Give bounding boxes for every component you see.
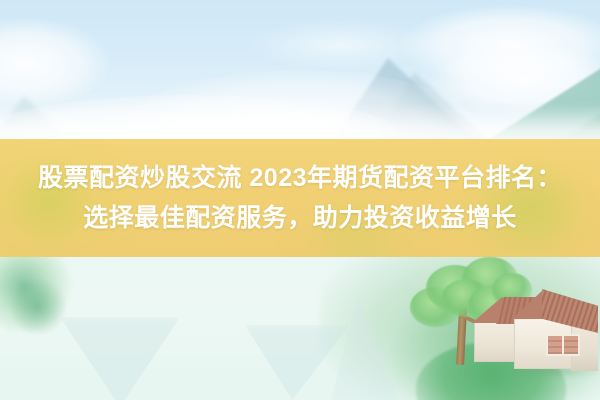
foliage-cluster-left [0, 257, 74, 331]
mountain-ridge-right [480, 50, 600, 145]
foliage-cluster-left-core [8, 279, 68, 335]
cloud-wisp [250, 20, 430, 70]
fog-shape-center [245, 325, 350, 400]
cloud-top-left [0, 18, 110, 108]
fog-shape-left [60, 317, 180, 400]
mountain-peak-second [372, 72, 492, 144]
headline-band: 股票配资炒股交流 2023年期货配资平台排名： 选择最佳配资服务，助力投资收益增… [0, 139, 600, 257]
meadow-wash [320, 257, 600, 400]
cloud-mid-right [430, 45, 600, 115]
headline-line-1: 股票配资炒股交流 2023年期货配资平台排名： [38, 161, 562, 195]
mountain-peak-far-left [0, 96, 70, 142]
bush-bottom-right [416, 342, 566, 400]
foreground-scene [0, 257, 600, 400]
meadow-wash-lower [390, 310, 600, 400]
fog-shape-right [330, 297, 400, 400]
promotional-banner: 股票配资炒股交流 2023年期货配资平台排名： 选择最佳配资服务，助力投资收益增… [0, 0, 600, 400]
mountain-ridge-right-far [550, 68, 600, 148]
headline-line-2: 选择最佳配资服务，助力投资收益增长 [83, 201, 517, 235]
cloud-top-right [400, 5, 600, 85]
mountain-peak-center [330, 58, 480, 144]
